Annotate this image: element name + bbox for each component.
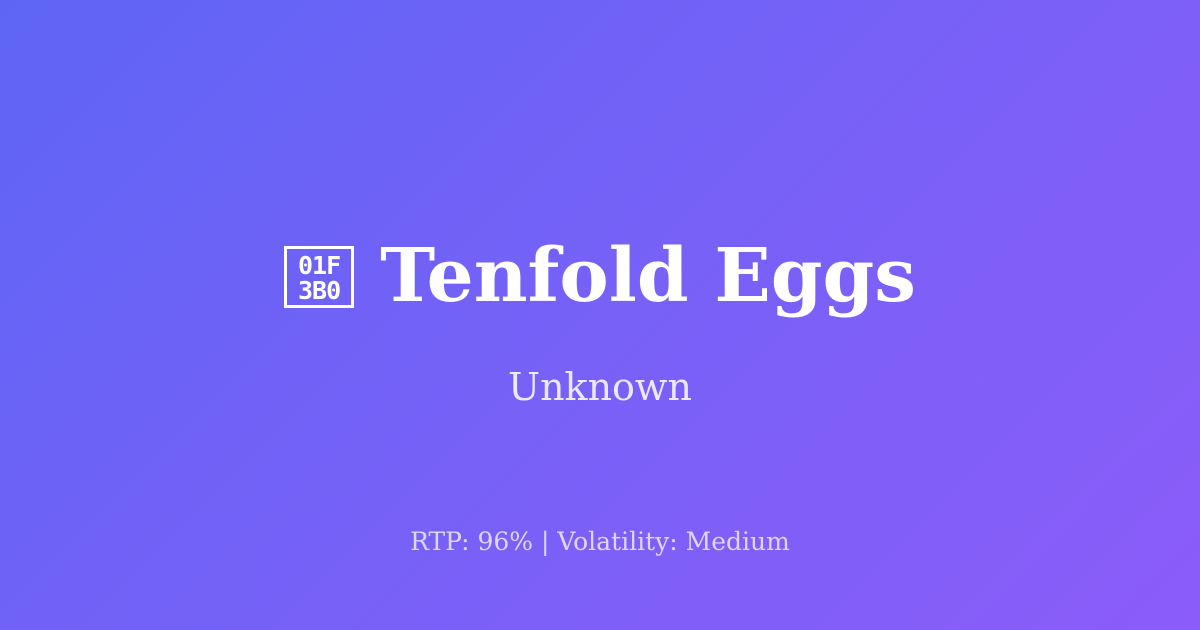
tofu-codepoint-top: 01F	[298, 253, 340, 278]
hero-row: 01F 3B0 Tenfold Eggs	[0, 236, 1200, 316]
slot-machine-icon: 01F 3B0	[284, 246, 354, 308]
game-stats-meta: RTP: 96% | Volatility: Medium	[0, 526, 1200, 558]
provider-subtitle: Unknown	[0, 364, 1200, 410]
og-preview-card: 01F 3B0 Tenfold Eggs Unknown RTP: 96% | …	[0, 0, 1200, 630]
page-title: Tenfold Eggs	[380, 236, 916, 316]
tofu-codepoint-bottom: 3B0	[298, 278, 340, 303]
